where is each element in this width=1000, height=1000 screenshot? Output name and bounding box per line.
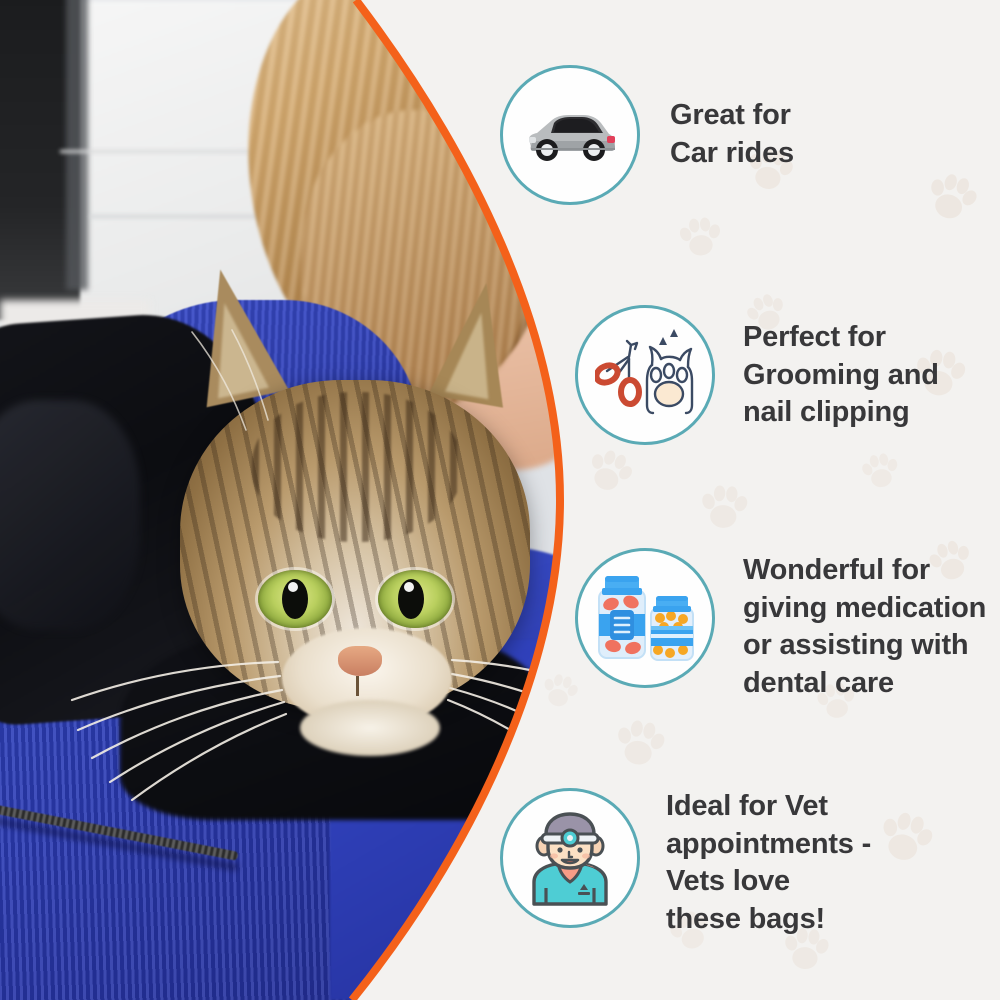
pill-bottles-icon — [593, 570, 697, 666]
feature-icon-circle — [575, 305, 715, 445]
nail-clippers-paw-icon — [595, 329, 695, 421]
feature-icon-circle — [500, 65, 640, 205]
feature-car-rides: Great for Car rides — [500, 65, 794, 205]
feature-icon-circle — [500, 788, 640, 928]
feature-icon-circle — [575, 548, 715, 688]
veterinarian-icon — [522, 810, 618, 906]
feature-label: Ideal for Vet appointments - Vets love t… — [666, 788, 871, 939]
feature-grooming: Perfect for Grooming and nail clipping — [575, 305, 939, 445]
infographic-canvas: Great for Car rides — [0, 0, 1000, 1000]
feature-label: Perfect for Grooming and nail clipping — [743, 319, 939, 432]
feature-medication: Wonderful for giving medication or assis… — [575, 548, 986, 703]
feature-label: Great for Car rides — [670, 97, 794, 172]
feature-label: Wonderful for giving medication or assis… — [743, 552, 986, 703]
feature-vet: Ideal for Vet appointments - Vets love t… — [500, 788, 871, 939]
car-icon — [521, 103, 619, 167]
